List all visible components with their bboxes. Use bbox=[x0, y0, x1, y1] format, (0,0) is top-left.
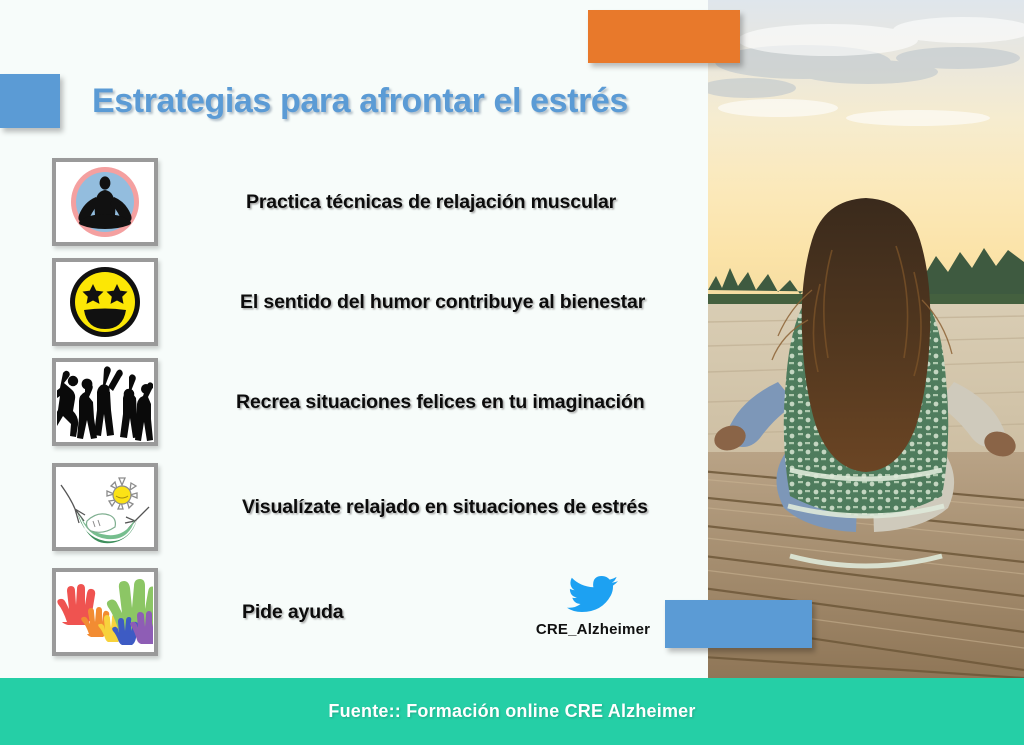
blue-accent-block-left bbox=[0, 74, 60, 128]
hammock-sun-icon bbox=[57, 469, 153, 545]
smiley-star-eyes-icon-box bbox=[52, 258, 158, 346]
sun-glyph bbox=[107, 478, 137, 509]
meditation-lotus-icon bbox=[59, 164, 151, 240]
strategy-row: Pide ayuda bbox=[52, 568, 343, 656]
smiley-star-eyes-icon bbox=[66, 263, 144, 341]
raised-hands-icon-box bbox=[52, 568, 158, 656]
page-title: Estrategias para afrontar el estrés bbox=[92, 82, 628, 121]
celebrating-people-silhouette-icon bbox=[57, 363, 153, 441]
strategy-row: El sentido del humor contribuye al biene… bbox=[52, 258, 645, 346]
photo-illustration bbox=[708, 0, 1024, 678]
raised-hands-icon bbox=[57, 576, 153, 648]
twitter-handle[interactable]: CRE_Alzheimer bbox=[528, 621, 658, 638]
hammock-sun-icon-box bbox=[52, 463, 158, 551]
meditation-lotus-icon-box bbox=[52, 158, 158, 246]
orange-accent-block bbox=[588, 10, 740, 63]
blue-accent-block-bottom bbox=[665, 600, 812, 648]
strategy-label: Recrea situaciones felices en tu imagina… bbox=[236, 391, 644, 414]
celebrating-people-silhouette-icon-box bbox=[52, 358, 158, 446]
footer-bar: Fuente:: Formación online CRE Alzheimer bbox=[0, 678, 1024, 745]
strategy-label: Practica técnicas de relajación muscular bbox=[246, 191, 616, 214]
twitter-bird-icon[interactable] bbox=[567, 575, 619, 619]
strategy-label: Pide ayuda bbox=[242, 601, 343, 624]
meditating-woman-photo bbox=[708, 0, 1024, 678]
strategy-row: Recrea situaciones felices en tu imagina… bbox=[52, 358, 644, 446]
twitter-credit[interactable]: CRE_Alzheimer bbox=[528, 575, 658, 638]
strategy-label: Visualízate relajado en situaciones de e… bbox=[242, 496, 648, 519]
infographic-slide: Estrategias para afrontar el estrés Prac… bbox=[0, 0, 1024, 745]
footer-source-text: Fuente:: Formación online CRE Alzheimer bbox=[328, 701, 695, 722]
strategy-row: Practica técnicas de relajación muscular bbox=[52, 158, 616, 246]
strategy-row: Visualízate relajado en situaciones de e… bbox=[52, 463, 648, 551]
strategy-label: El sentido del humor contribuye al biene… bbox=[240, 291, 645, 314]
